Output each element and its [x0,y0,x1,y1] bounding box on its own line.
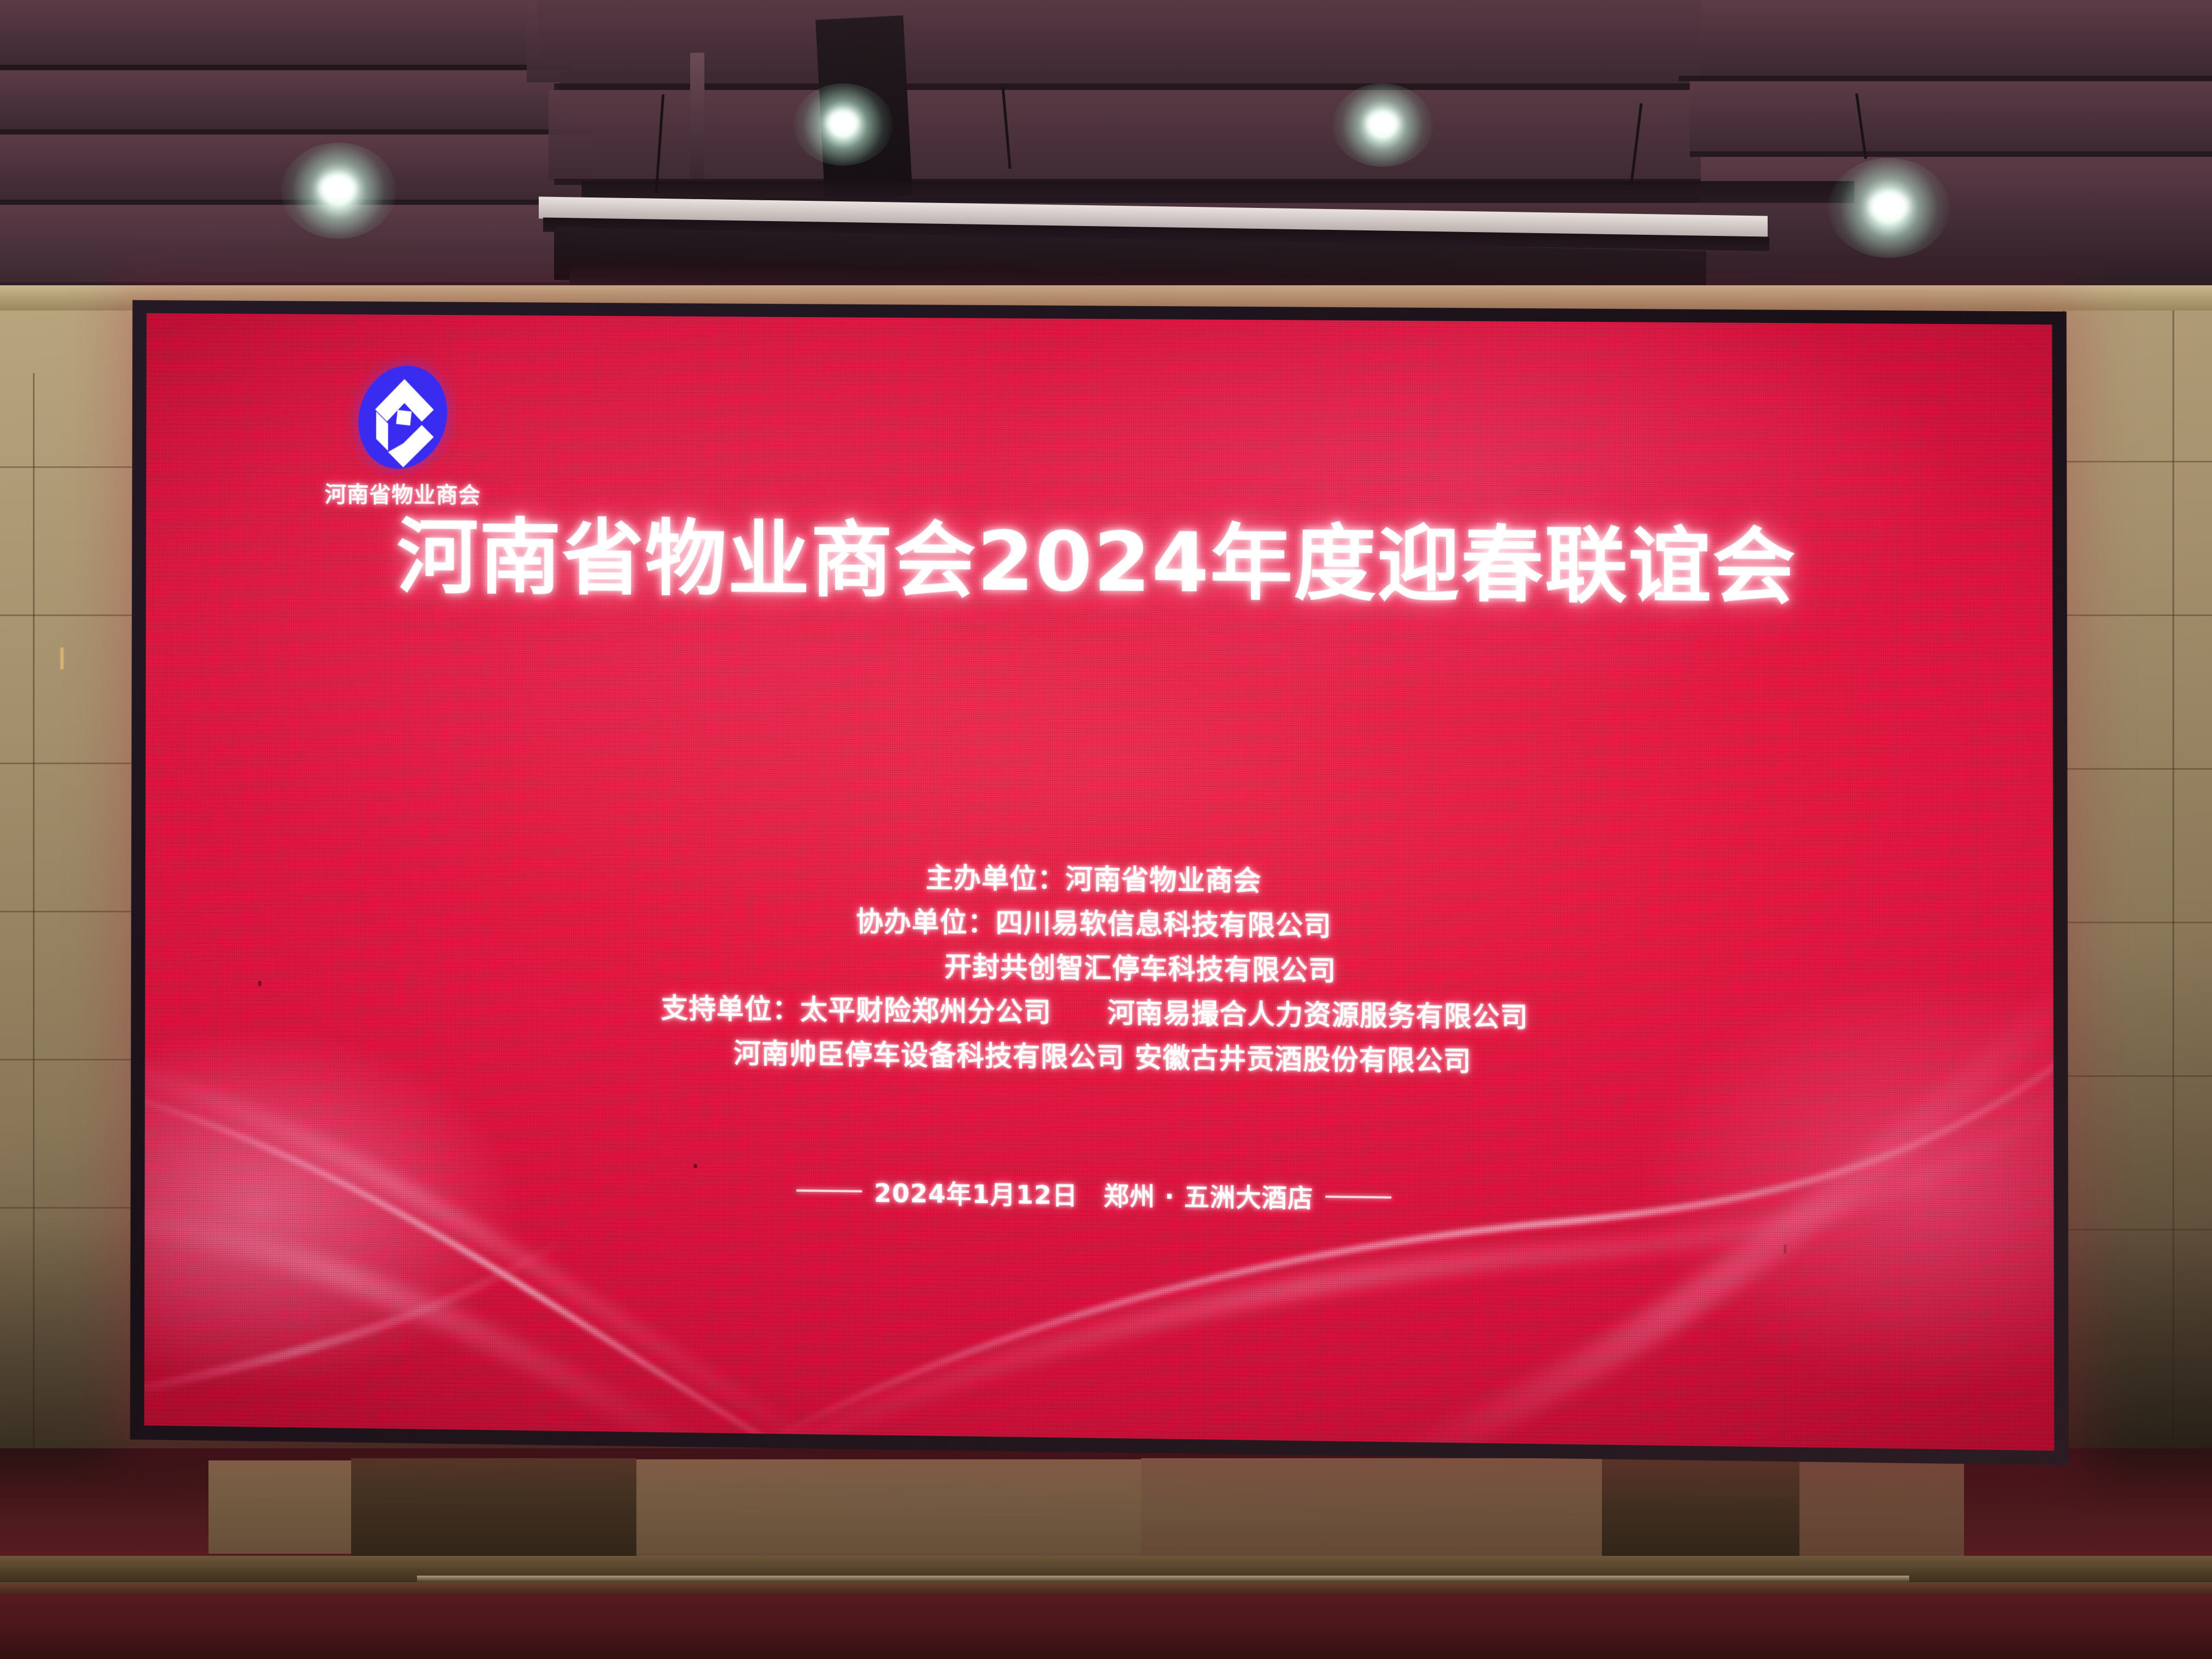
chamber-emblem-icon [351,359,454,482]
date-venue-row: 2024年1月12日 郑州 · 五洲大酒店 [145,1165,2054,1223]
logo-caption: 河南省物业商会 [252,483,554,507]
stage-area [0,1448,2212,1659]
date-venue-text: 2024年1月12日 郑州 · 五洲大酒店 [874,1173,1313,1214]
dash-left-icon [796,1189,862,1192]
photo-scene: 河南省物业商会 河南省物业商会2024年度迎春联谊会 主办单位：河南省物业商会 … [0,0,2212,1659]
led-screen-bezel: 河南省物业商会 河南省物业商会2024年度迎春联谊会 主办单位：河南省物业商会 … [130,300,2069,1465]
ceiling [0,0,2212,307]
led-screen: 河南省物业商会 河南省物业商会2024年度迎春联谊会 主办单位：河南省物业商会 … [144,313,2055,1451]
dash-right-icon [1325,1195,1391,1198]
wall-light-fleck [60,647,64,669]
organization-logo: 河南省物业商会 [252,358,554,507]
event-title: 河南省物业商会2024年度迎春联谊会 [146,513,2053,614]
ceiling-pipe [690,53,704,179]
credits-block: 主办单位：河南省物业商会 协办单位：四川易软信息科技有限公司 开封共创智汇停车科… [145,849,2053,1091]
